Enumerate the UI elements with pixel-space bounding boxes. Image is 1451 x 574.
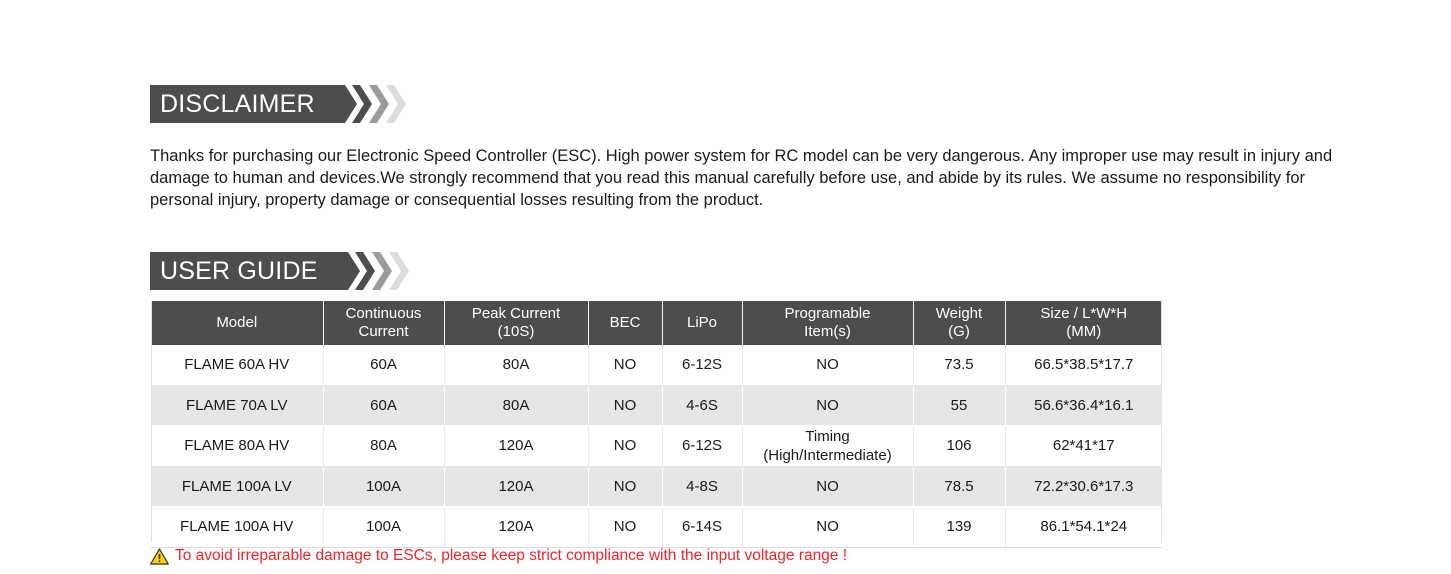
cell-weight: 78.5 bbox=[913, 466, 1005, 507]
disclaimer-banner-title: DISCLAIMER bbox=[160, 92, 315, 117]
chevron-right-icon-3 bbox=[389, 252, 409, 290]
cell-weight: 139 bbox=[913, 507, 1005, 548]
user-guide-chevrons bbox=[358, 252, 409, 290]
cell-weight: 106 bbox=[913, 426, 1005, 467]
cell-peak-current: 120A bbox=[444, 466, 588, 507]
cell-continuous-current: 100A bbox=[323, 466, 444, 507]
cell-continuous-current: 100A bbox=[323, 507, 444, 548]
header-line-1: LiPo bbox=[665, 314, 740, 332]
prog-line-1: NO bbox=[745, 517, 911, 536]
prog-line-1: Timing bbox=[745, 427, 911, 446]
header-line-1: Model bbox=[153, 314, 321, 332]
disclaimer-banner: DISCLAIMER bbox=[150, 85, 406, 123]
cell-weight: 55 bbox=[913, 385, 1005, 426]
warning-triangle-icon bbox=[150, 548, 169, 565]
cell-peak-current: 80A bbox=[444, 385, 588, 426]
table-row: FLAME 80A HV 80A 120A NO 6-12S Timing (H… bbox=[151, 426, 1162, 467]
cell-lipo: 6-12S bbox=[662, 426, 742, 467]
header-line-2: (10S) bbox=[447, 323, 586, 341]
cell-bec: NO bbox=[588, 385, 662, 426]
esc-spec-table: Model Continuous Current Peak Current (1… bbox=[151, 301, 1162, 548]
cell-lipo: 6-12S bbox=[662, 345, 742, 385]
table-row: FLAME 100A LV 100A 120A NO 4-8S NO 78.5 … bbox=[151, 466, 1162, 507]
prog-line-1: NO bbox=[745, 355, 911, 374]
cell-bec: NO bbox=[588, 345, 662, 385]
header-line-1: BEC bbox=[591, 314, 660, 332]
column-header-weight: Weight (G) bbox=[913, 301, 1005, 345]
cell-programable-items: NO bbox=[742, 466, 913, 507]
header-line-2: Item(s) bbox=[745, 323, 911, 341]
header-line-2: (MM) bbox=[1008, 323, 1161, 341]
table-row: FLAME 100A HV 100A 120A NO 6-14S NO 139 … bbox=[151, 507, 1162, 548]
header-line-2: Current bbox=[326, 323, 442, 341]
table-row: FLAME 60A HV 60A 80A NO 6-12S NO 73.5 66… bbox=[151, 345, 1162, 385]
cell-continuous-current: 80A bbox=[323, 426, 444, 467]
cell-programable-items: NO bbox=[742, 507, 913, 548]
esc-manual-page: DISCLAIMER Thanks for purchasing our Ele… bbox=[0, 0, 1451, 574]
column-header-continuous-current: Continuous Current bbox=[323, 301, 444, 345]
cell-peak-current: 120A bbox=[444, 507, 588, 548]
cell-programable-items: NO bbox=[742, 385, 913, 426]
column-header-size: Size / L*W*H (MM) bbox=[1005, 301, 1162, 345]
header-line-1: Continuous bbox=[326, 305, 442, 323]
disclaimer-chevrons bbox=[355, 85, 406, 123]
cell-model: FLAME 100A HV bbox=[151, 507, 323, 548]
cell-programable-items: Timing (High/Intermediate) bbox=[742, 426, 913, 467]
cell-size: 62*41*17 bbox=[1005, 426, 1162, 467]
column-header-model: Model bbox=[151, 301, 323, 345]
header-line-1: Programable bbox=[745, 305, 911, 323]
user-guide-banner-body: USER GUIDE bbox=[150, 252, 334, 290]
prog-line-1: NO bbox=[745, 477, 911, 496]
cell-size: 86.1*54.1*24 bbox=[1005, 507, 1162, 548]
cell-bec: NO bbox=[588, 426, 662, 467]
cell-bec: NO bbox=[588, 507, 662, 548]
column-header-peak-current: Peak Current (10S) bbox=[444, 301, 588, 345]
table-header-row: Model Continuous Current Peak Current (1… bbox=[151, 301, 1162, 345]
column-header-lipo: LiPo bbox=[662, 301, 742, 345]
disclaimer-body-text: Thanks for purchasing our Electronic Spe… bbox=[150, 145, 1355, 211]
cell-peak-current: 80A bbox=[444, 345, 588, 385]
cell-size: 56.6*36.4*16.1 bbox=[1005, 385, 1162, 426]
cell-size: 66.5*38.5*17.7 bbox=[1005, 345, 1162, 385]
column-header-bec: BEC bbox=[588, 301, 662, 345]
voltage-warning-text: To avoid irreparable damage to ESCs, ple… bbox=[175, 546, 847, 566]
cell-model: FLAME 70A LV bbox=[151, 385, 323, 426]
table-row: FLAME 70A LV 60A 80A NO 4-6S NO 55 56.6*… bbox=[151, 385, 1162, 426]
header-line-2: (G) bbox=[916, 323, 1003, 341]
column-header-programable-items: Programable Item(s) bbox=[742, 301, 913, 345]
chevron-right-icon-3 bbox=[386, 85, 406, 123]
header-line-1: Weight bbox=[916, 305, 1003, 323]
cell-peak-current: 120A bbox=[444, 426, 588, 467]
header-line-1: Size / L*W*H bbox=[1008, 305, 1161, 323]
cell-size: 72.2*30.6*17.3 bbox=[1005, 466, 1162, 507]
cell-lipo: 6-14S bbox=[662, 507, 742, 548]
cell-lipo: 4-6S bbox=[662, 385, 742, 426]
user-guide-banner-title: USER GUIDE bbox=[160, 259, 318, 284]
header-line-1: Peak Current bbox=[447, 305, 586, 323]
cell-continuous-current: 60A bbox=[323, 385, 444, 426]
cell-model: FLAME 80A HV bbox=[151, 426, 323, 467]
user-guide-banner: USER GUIDE bbox=[150, 252, 409, 290]
cell-lipo: 4-8S bbox=[662, 466, 742, 507]
cell-continuous-current: 60A bbox=[323, 345, 444, 385]
cell-weight: 73.5 bbox=[913, 345, 1005, 385]
voltage-warning: To avoid irreparable damage to ESCs, ple… bbox=[150, 546, 847, 566]
prog-line-2: (High/Intermediate) bbox=[745, 446, 911, 465]
cell-model: FLAME 100A LV bbox=[151, 466, 323, 507]
cell-model: FLAME 60A HV bbox=[151, 345, 323, 385]
cell-programable-items: NO bbox=[742, 345, 913, 385]
prog-line-1: NO bbox=[745, 396, 911, 415]
disclaimer-banner-body: DISCLAIMER bbox=[150, 85, 331, 123]
cell-bec: NO bbox=[588, 466, 662, 507]
